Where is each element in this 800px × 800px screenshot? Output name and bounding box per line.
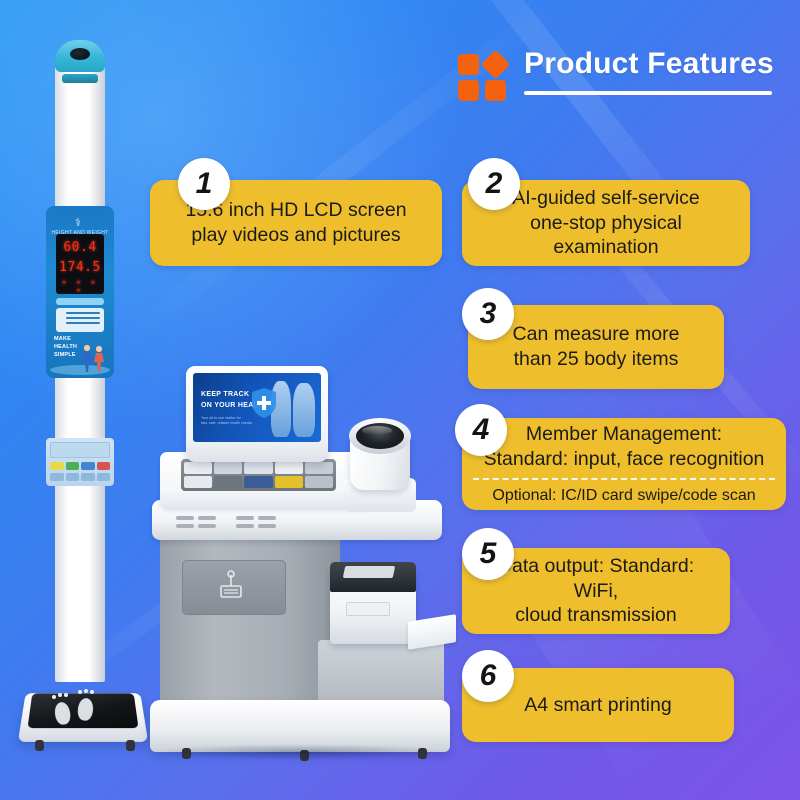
panel-info-lines [66,312,100,329]
device-diagram-icon [212,570,250,604]
deck-vent [198,524,216,528]
column-display-panel: ⚕ HEIGHT AND WEIGHT SCALE 60.4 174.5 ▪ ▪… [46,206,114,378]
sensor-band [62,74,98,83]
logo-diamond-top-right [481,50,511,80]
product-features-poster: ⚕ HEIGHT AND WEIGHT SCALE 60.4 174.5 ▪ ▪… [0,0,800,800]
four-squares-logo-icon [458,52,510,102]
scale-brand-icon: ⚕ [75,218,85,230]
screen-person [293,383,315,437]
panel-accent-strip [56,298,104,305]
platform-foot [126,740,135,751]
feature-number-badge: 6 [462,650,514,702]
led-indicator-dots: ▪ ▪ ▪ ▪ [56,278,104,294]
toe-dot [58,693,62,697]
product-illustration: ⚕ HEIGHT AND WEIGHT SCALE 60.4 174.5 ▪ ▪… [0,0,470,800]
deck-vent [258,516,276,520]
keypad-screen [50,442,110,458]
toe-dot [64,693,68,697]
deck-vent [176,524,194,528]
title-underline [524,91,772,95]
weight-reading: 60.4 [56,240,104,255]
sensor-lens-icon [70,48,90,60]
platform-foot [35,740,44,751]
deck-vent [198,516,216,520]
card-dashed-divider [473,478,775,480]
lcd-screen[interactable]: KEEP TRACK ON YOUR HEALTH Your all-in-on… [193,373,321,442]
deck-vent [236,524,254,528]
people-illustration-icon [76,342,110,374]
deck-vent [176,516,194,520]
printer-paper-slot [343,566,396,578]
instrument-module-tray[interactable] [181,459,336,491]
feature-number-badge: 3 [462,288,514,340]
deck-vent [258,524,276,528]
kiosk-monitor: KEEP TRACK ON YOUR HEALTH Your all-in-on… [186,366,328,462]
health-shield-icon [251,387,277,419]
feature-number-badge: 5 [462,528,514,580]
column-keypad[interactable] [46,438,114,486]
feature-optional-text: Optional: IC/ID card swipe/code scan [462,486,786,506]
keypad-keys-row2[interactable] [50,473,110,481]
panel-slogan: MAKE HEALTH SIMPLE [54,336,77,360]
header: Product Features [458,47,778,109]
toe-dot [84,689,88,693]
page-title: Product Features [524,47,774,81]
deck-vent [236,516,254,520]
cuff-highlight [362,426,392,435]
logo-square-top-left [458,54,479,75]
product-shadow [150,744,450,760]
led-readout: 60.4 174.5 ▪ ▪ ▪ ▪ [56,234,104,294]
toe-dot [52,695,56,699]
feature-number-badge: 2 [468,158,520,210]
toe-dot [78,690,82,694]
logo-square-bottom-left [458,80,479,101]
keypad-color-keys[interactable] [50,462,110,470]
printer-label [346,602,390,616]
feature-text: Member Management: Standard: input, face… [462,422,786,472]
logo-square-bottom-right [485,80,506,101]
feature-number-badge: 1 [178,158,230,210]
height-reading: 174.5 [56,260,104,275]
printer-output-tray [408,614,456,650]
toe-dot [90,690,94,694]
feature-number-badge: 4 [455,404,507,456]
feature-card-4: Member Management: Standard: input, face… [462,418,786,510]
